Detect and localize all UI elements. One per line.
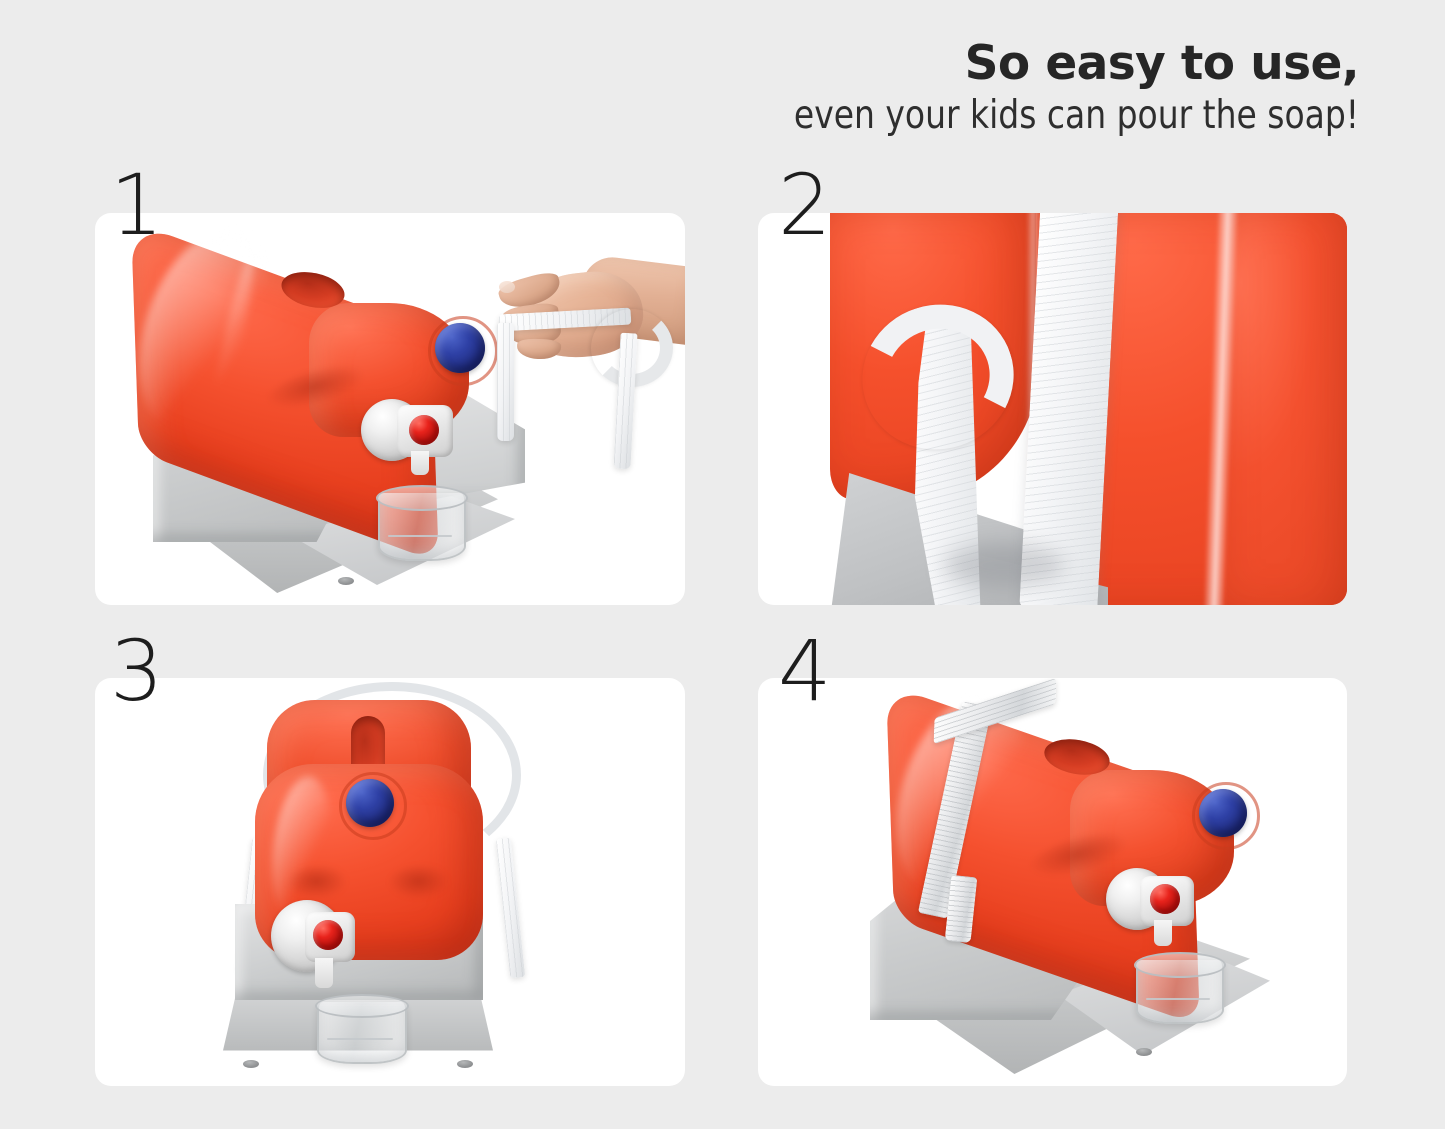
- cup-fill-line: [327, 1038, 393, 1040]
- stand-foot-right: [457, 1060, 473, 1068]
- step-card-1: [95, 213, 685, 605]
- step-number-1: 1: [110, 163, 163, 247]
- step-2-illustration: [758, 213, 1347, 605]
- dispenser-spout[interactable]: [1106, 864, 1218, 960]
- blue-cap-icon: [346, 779, 394, 827]
- stand-foot-left: [243, 1060, 259, 1068]
- dispenser-spout[interactable]: [271, 900, 379, 996]
- step-card-4: [758, 678, 1347, 1086]
- jug-dimple-right: [387, 866, 457, 906]
- dispenser-spout[interactable]: [361, 395, 471, 487]
- measuring-cup: [1132, 950, 1228, 1032]
- cup-fill-line: [1146, 998, 1210, 1000]
- cup-rim: [315, 994, 409, 1018]
- promo-stage: So easy to use, even your kids can pour …: [0, 0, 1445, 1129]
- blue-cap-icon: [435, 323, 485, 373]
- cup-rim: [1134, 952, 1226, 978]
- header-block: So easy to use, even your kids can pour …: [459, 40, 1359, 138]
- jug-surface-far-right: [1226, 213, 1347, 605]
- step-number-2: 2: [778, 163, 831, 247]
- finger-pinky: [517, 338, 562, 360]
- step-1-illustration: [95, 213, 685, 605]
- strap-right-arm: [496, 838, 526, 979]
- strap-shadow: [944, 543, 1064, 587]
- step-number-4: 4: [778, 629, 831, 713]
- fingernail: [499, 281, 515, 293]
- page-title: So easy to use,: [459, 40, 1359, 87]
- cup-rim: [376, 485, 468, 511]
- spout-nozzle: [315, 958, 333, 988]
- spout-nozzle: [1154, 920, 1172, 946]
- measuring-cup: [313, 994, 409, 1070]
- measuring-cup: [374, 483, 470, 569]
- blue-cap-icon: [1199, 789, 1247, 837]
- stand-foot: [338, 577, 354, 585]
- step-card-3: [95, 678, 685, 1086]
- red-valve-button[interactable]: [409, 415, 439, 445]
- stand-foot: [1136, 1048, 1152, 1056]
- red-valve-button[interactable]: [1150, 884, 1180, 914]
- u-strap-left-arm: [497, 323, 514, 441]
- steps-grid: [95, 213, 1347, 1086]
- step-3-illustration: [95, 678, 685, 1086]
- red-valve-button[interactable]: [313, 920, 343, 950]
- page-subtitle: even your kids can pour the soap!: [513, 94, 1359, 138]
- step-4-illustration: [758, 678, 1347, 1086]
- spout-nozzle: [411, 451, 429, 475]
- step-card-2: [758, 213, 1347, 605]
- step-number-3: 3: [110, 629, 163, 713]
- cup-fill-line: [388, 535, 452, 537]
